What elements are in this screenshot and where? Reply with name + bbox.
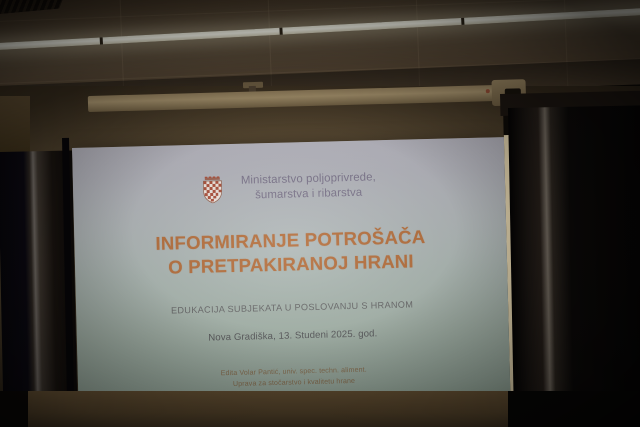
lower-band-shadow-right: [508, 391, 640, 427]
slide-author: Edita Volar Pantić, univ. spec. techn. a…: [112, 362, 476, 393]
slide-event-line: Nova Gradiška, 13. Studeni 2025. god.: [111, 326, 475, 346]
roller-status-led: [486, 89, 490, 93]
light-seam: [100, 37, 103, 44]
conference-room-photo: Ministarstvo poljoprivrede, šumarstva i …: [0, 0, 640, 427]
lower-band-shadow-left: [0, 391, 28, 427]
screen-surface: Ministarstvo poljoprivrede, šumarstva i …: [72, 137, 511, 412]
dark-window-panel-right: [508, 105, 640, 427]
light-seam: [279, 28, 282, 35]
ministry-header: Ministarstvo poljoprivrede, šumarstva i …: [107, 168, 472, 207]
light-seam: [461, 18, 464, 25]
slide-subtitle: EDUKACIJA SUBJEKATA U POSLOVANJU S HRANO…: [110, 298, 474, 317]
slide-title: INFORMIRANJE POTROŠAČA O PRETPAKIRANOJ H…: [108, 224, 473, 282]
presentation-slide: Ministarstvo poljoprivrede, šumarstva i …: [72, 137, 511, 412]
ministry-name: Ministarstvo poljoprivrede, šumarstva i …: [241, 170, 377, 204]
projection-screen: Ministarstvo poljoprivrede, šumarstva i …: [72, 137, 511, 412]
croatian-coat-of-arms: [202, 176, 224, 204]
ministry-line-2: šumarstva i ribarstva: [241, 185, 376, 203]
